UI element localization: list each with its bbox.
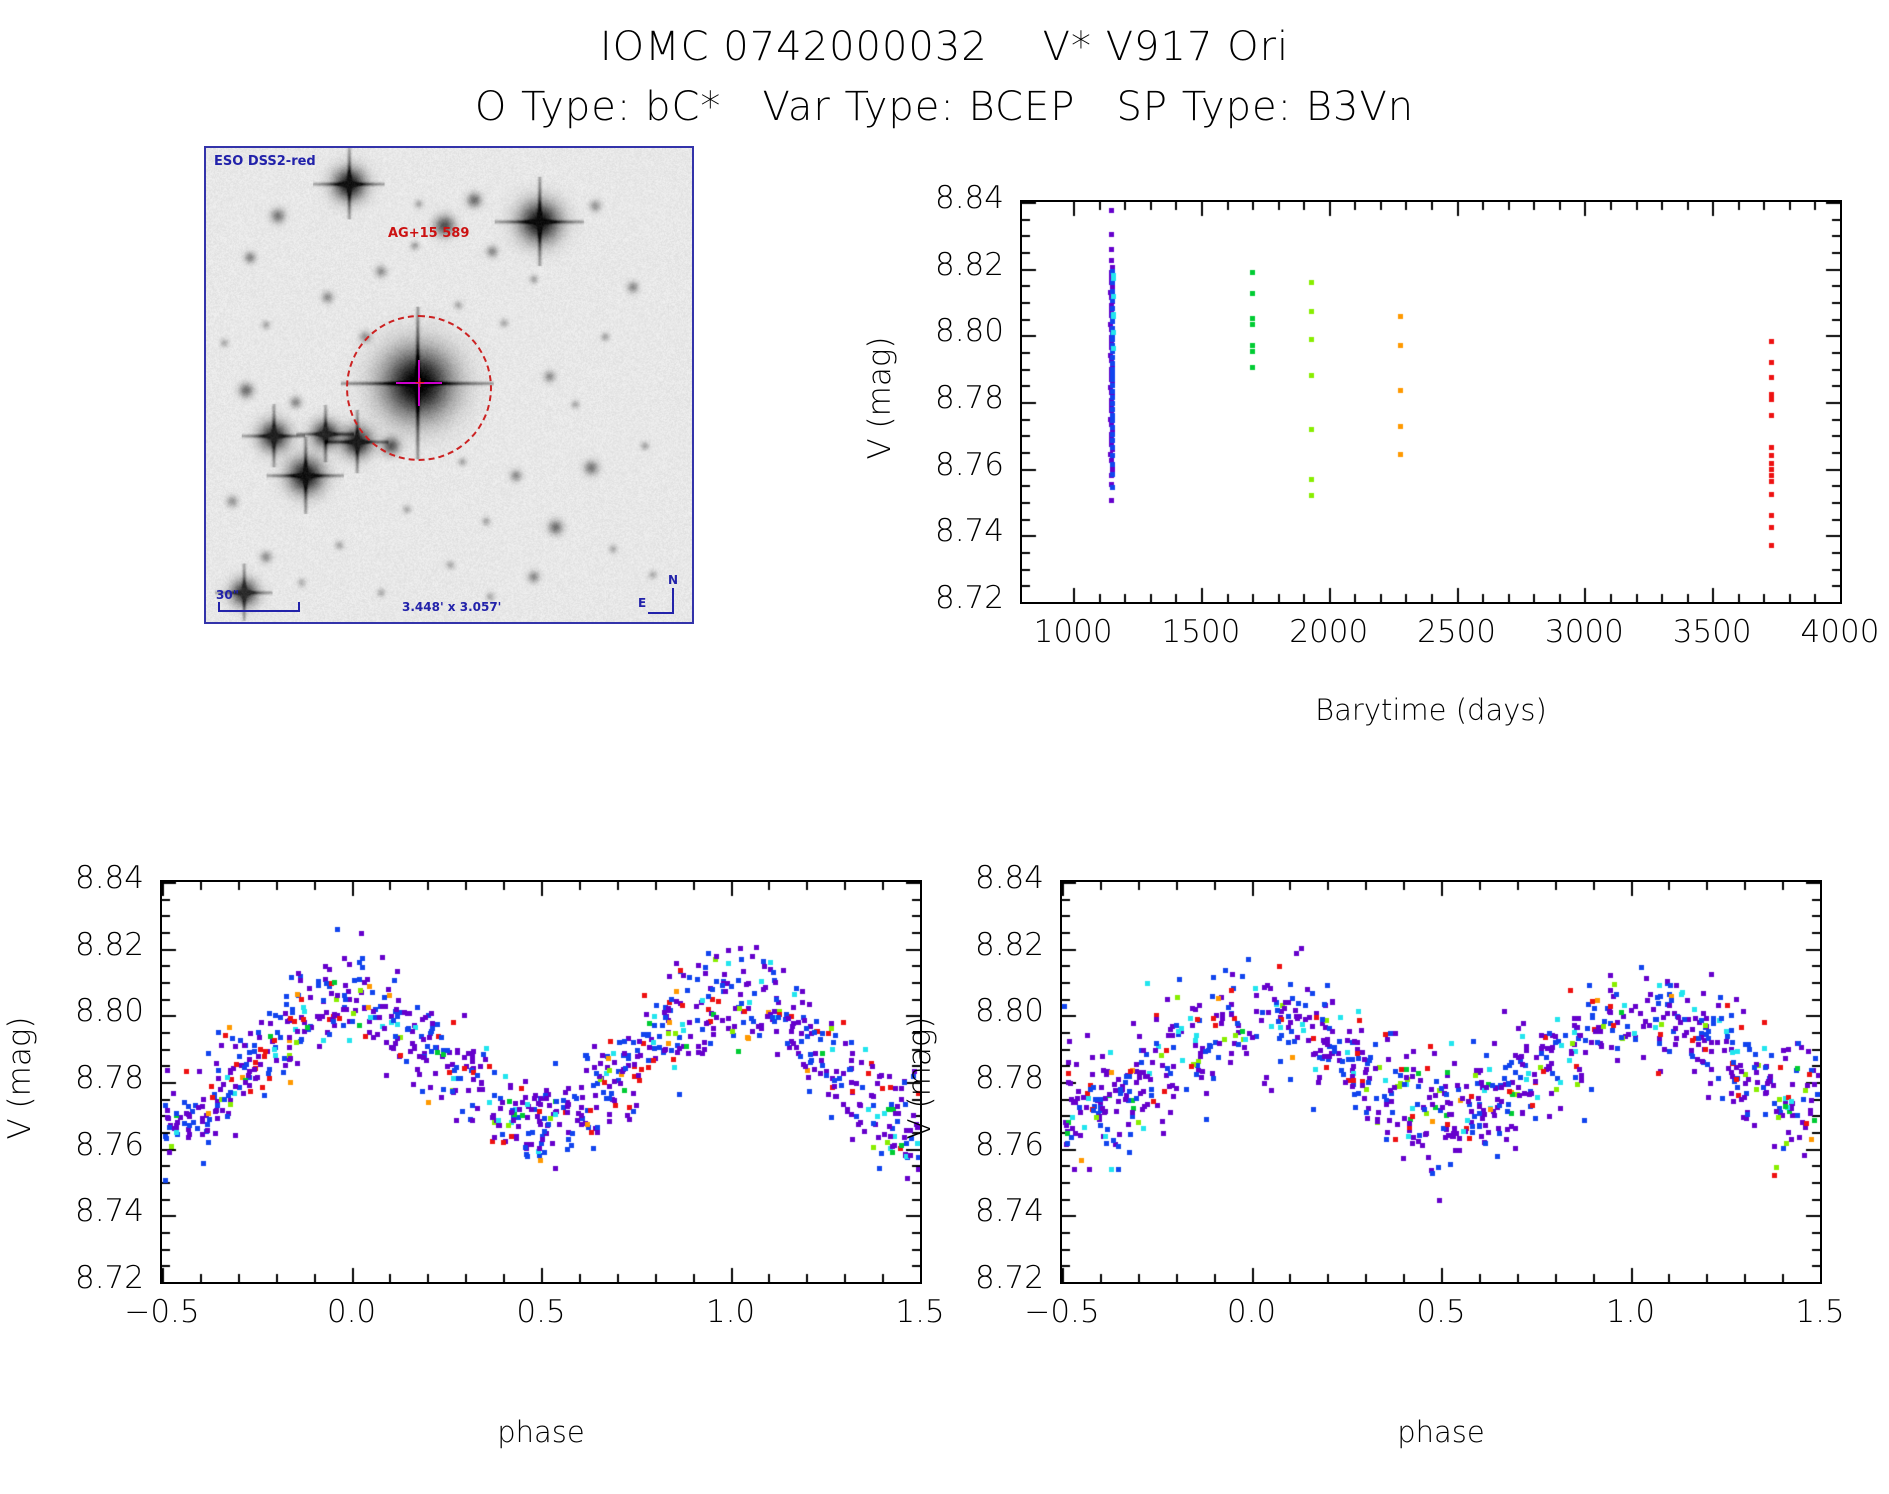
axis-tick-label: 8.72 — [884, 1260, 1044, 1296]
north-label: N — [668, 573, 678, 587]
axis-tick-label: 1.5 — [1740, 1294, 1889, 1330]
axis-tick-label: 8.80 — [844, 313, 1004, 349]
axis-tick-label: 8.78 — [0, 1060, 144, 1096]
axis-tick-label: 8.72 — [0, 1260, 144, 1296]
axis-tick-label: 0.0 — [272, 1294, 432, 1330]
scale-bar-tick-left — [218, 602, 220, 612]
axis-tick-label: 1.0 — [651, 1294, 811, 1330]
axis-tick-label: 8.82 — [844, 247, 1004, 283]
axis-tick-label: 8.74 — [0, 1193, 144, 1229]
axis-tick-label: 8.72 — [844, 580, 1004, 616]
axis-tick-label: 1.5 — [840, 1294, 1000, 1330]
scale-bar — [218, 610, 300, 612]
axis-tick-label: 8.74 — [844, 513, 1004, 549]
page-title: IOMC 0742000032 V* V917 Ori — [0, 24, 1889, 70]
axis-tick-label: 0.5 — [1361, 1294, 1521, 1330]
phase-omc-points — [162, 882, 920, 1282]
center-cross-icon: + — [414, 376, 426, 390]
target-annotation-label: AG+15 589 — [388, 226, 469, 241]
axis-tick-label: 8.84 — [0, 860, 144, 896]
axis-tick-label: −0.5 — [82, 1294, 242, 1330]
page-subtitle: O Type: bC* Var Type: BCEP SP Type: B3Vn — [0, 84, 1889, 130]
scale-bar-label: 30" — [216, 588, 239, 602]
compass-east-arrow — [648, 612, 674, 614]
axis-tick-label: 0.5 — [461, 1294, 621, 1330]
axis-tick-label: 8.80 — [0, 993, 144, 1029]
lightcurve-time-plot-area[interactable] — [1020, 200, 1842, 604]
axis-tick-label: 8.74 — [884, 1193, 1044, 1229]
axis-tick-label: 0.0 — [1172, 1294, 1332, 1330]
phase-vsx-points — [1062, 882, 1820, 1282]
axis-tick-label: 1.0 — [1551, 1294, 1711, 1330]
phase-vsx-xlabel: phase — [1060, 1415, 1822, 1449]
axis-tick-label: 8.76 — [884, 1127, 1044, 1163]
phase-vsx-plot-area[interactable] — [1060, 880, 1822, 1284]
axis-tick-label: 8.78 — [884, 1060, 1044, 1096]
axis-tick-label: 8.82 — [0, 927, 144, 963]
survey-name-label: ESO DSS2-red — [214, 154, 316, 169]
phase-omc-plot-area[interactable] — [160, 880, 922, 1284]
field-size-label: 3.448' x 3.057' — [402, 600, 501, 614]
compass-north-arrow — [672, 588, 674, 614]
axis-tick-label: 8.76 — [0, 1127, 144, 1163]
axis-tick-label: −0.5 — [982, 1294, 1142, 1330]
lightcurve-time-xlabel: Barytime (days) — [1020, 693, 1842, 727]
east-label: E — [638, 596, 646, 610]
lightcurve-time-points — [1022, 202, 1840, 602]
axis-tick-label: 8.84 — [884, 860, 1044, 896]
scale-bar-tick-right — [298, 602, 300, 612]
axis-tick-label: 4000 — [1760, 614, 1889, 650]
axis-tick-label: 8.76 — [844, 447, 1004, 483]
sky-image-frame[interactable]: ESO DSS2-red AG+15 589 + 30" 3.448' x 3.… — [204, 146, 694, 624]
axis-tick-label: 8.78 — [844, 380, 1004, 416]
phase-omc-xlabel: phase — [160, 1415, 922, 1449]
axis-tick-label: 8.84 — [844, 180, 1004, 216]
axis-tick-label: 8.82 — [884, 927, 1044, 963]
axis-tick-label: 8.80 — [884, 993, 1044, 1029]
